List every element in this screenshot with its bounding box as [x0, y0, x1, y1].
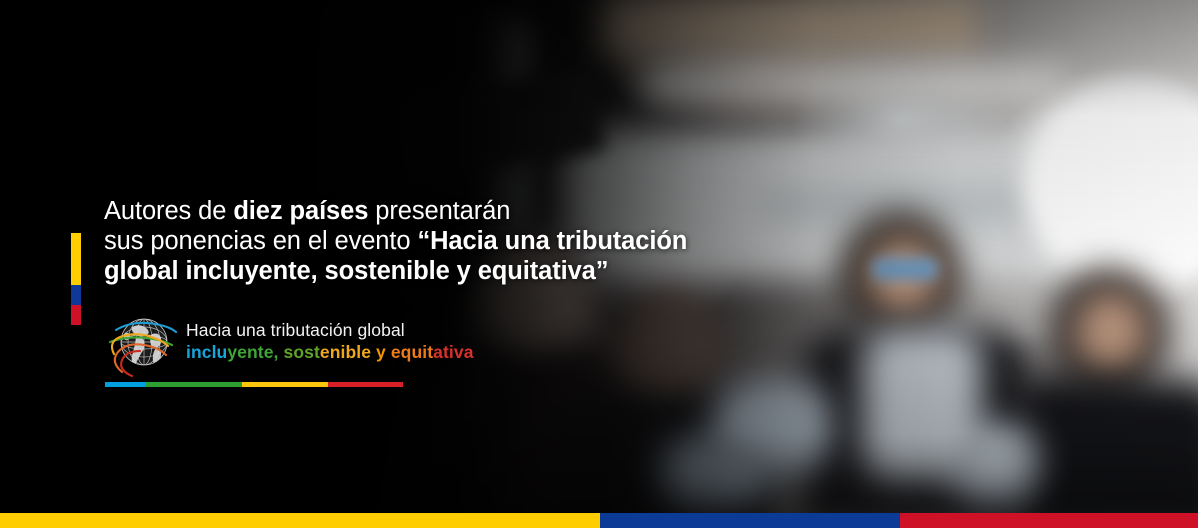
- logo-tagline-segment-5: equit: [391, 342, 433, 362]
- headline-line-3-bold: global incluyente, sostenible y equitati…: [104, 257, 608, 285]
- bottom-bar-blue: [600, 513, 900, 528]
- flag-stripe-blue: [71, 285, 81, 305]
- logo-tagline-segment-4: y: [371, 342, 391, 362]
- headline-line-1: Autores de diez países presentarán: [104, 196, 687, 226]
- logo-tagline-segment-0: inclu: [186, 342, 227, 362]
- colombia-tricolor-bar: [0, 513, 1198, 528]
- headline-line-1-post: presentarán: [368, 197, 510, 225]
- event-announcement-banner: Autores de diez países presentarán sus p…: [0, 0, 1198, 528]
- banner-headline: Autores de diez países presentarán sus p…: [104, 196, 687, 286]
- headline-line-2-pre: sus ponencias en el evento: [104, 227, 417, 255]
- headline-line-3: global incluyente, sostenible y equitati…: [104, 256, 687, 286]
- logo-tagline-segment-1: yente,: [227, 342, 278, 362]
- headline-line-1-pre: Autores de: [104, 197, 233, 225]
- logo-tagline-segment-6: ativa: [433, 342, 473, 362]
- logo-rule-green: [145, 382, 242, 387]
- logo-rule-blue: [105, 382, 145, 387]
- logo-tagline-line-2: incluyente, sostenible y equitativa: [186, 341, 474, 363]
- bottom-bar-yellow: [0, 513, 600, 528]
- logo-tagline-segment-3: enible: [320, 342, 371, 362]
- banner-content: Autores de diez países presentarán sus p…: [0, 0, 1198, 528]
- logo-color-rule: [105, 382, 403, 387]
- globe-icon: [102, 314, 180, 382]
- logo-rule-red: [328, 382, 403, 387]
- headline-line-1-bold: diez países: [233, 197, 368, 225]
- logo-tagline-segment-2: sost: [279, 342, 320, 362]
- logo-tagline-line-1: Hacia una tributación global: [186, 320, 474, 341]
- logo-wordmark: Hacia una tributación global incluyente,…: [186, 320, 474, 363]
- flag-stripe-red: [71, 305, 81, 325]
- event-logo[interactable]: Hacia una tributación global incluyente,…: [100, 312, 500, 396]
- headline-line-2-bold: “Hacia una tributación: [417, 227, 687, 255]
- bottom-bar-red: [900, 513, 1198, 528]
- colombia-flag-stripe: [71, 233, 81, 325]
- flag-stripe-yellow: [71, 233, 81, 285]
- headline-line-2: sus ponencias en el evento “Hacia una tr…: [104, 226, 687, 256]
- logo-rule-yellow: [242, 382, 328, 387]
